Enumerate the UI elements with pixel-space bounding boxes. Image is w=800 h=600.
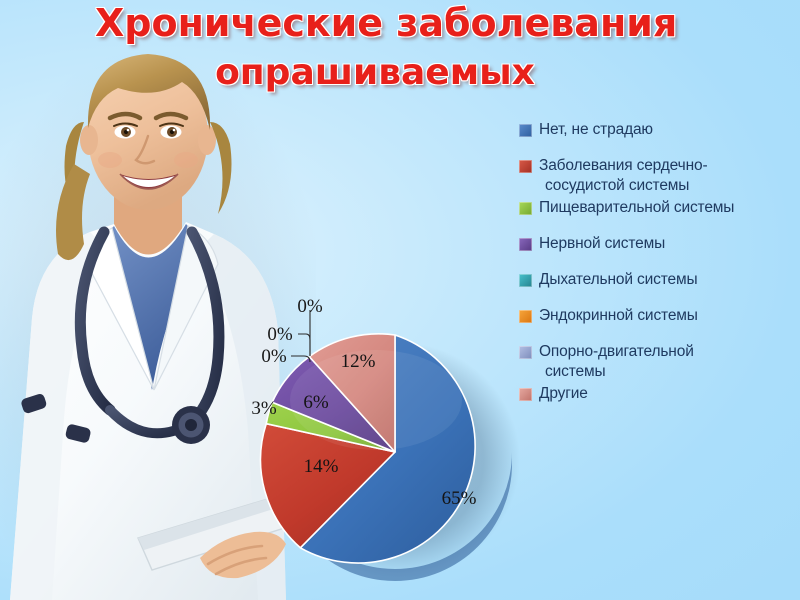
pie-label-other: 12% (341, 351, 376, 372)
callout-line-endocrine (298, 334, 310, 356)
pie-label-cardio: 14% (304, 456, 339, 477)
legend-swatch-icon (519, 310, 532, 323)
legend-swatch-icon (519, 202, 532, 215)
slide-canvas: Хронические заболевания опрашиваемых (0, 0, 800, 600)
legend-swatch-icon (519, 274, 532, 287)
legend-item-digestive[interactable]: Пищеварительной системы (519, 198, 795, 218)
legend-item-no-illness[interactable]: Нет, не страдаю (519, 120, 795, 140)
pie-label-nervous: 6% (303, 392, 329, 413)
legend-item-cardio[interactable]: Заболевания сердечно- сосудистой системы (519, 156, 795, 196)
pie-label-endocrine: 0% (267, 324, 293, 345)
pie-label-respiratory: 0% (261, 346, 287, 367)
legend-label: Дыхательной системы (539, 270, 697, 290)
legend-item-endocrine[interactable]: Эндокринной системы (519, 306, 795, 326)
pie-label-digestive: 3% (251, 398, 277, 419)
pie-label-no-illness: 65% (442, 488, 477, 509)
legend-label-line-2: системы (539, 362, 694, 382)
legend-label-line-1: Заболевания сердечно- (539, 157, 707, 174)
legend-label: Нет, не страдаю (539, 120, 653, 140)
legend-label: Эндокринной системы (539, 306, 698, 326)
legend-item-respiratory[interactable]: Дыхательной системы (519, 270, 795, 290)
legend-label: Нервной системы (539, 234, 665, 254)
legend-label-line-2: сосудистой системы (539, 176, 707, 196)
legend-label-line-1: Опорно-двигательной (539, 343, 694, 360)
pie-label-musculoskeletal: 0% (297, 296, 323, 317)
legend-swatch-icon (519, 124, 532, 137)
legend-label: Пищеварительной системы (539, 198, 734, 218)
legend-swatch-icon (519, 388, 532, 401)
legend-label: Опорно-двигательной системы (539, 342, 694, 382)
legend-item-other[interactable]: Другие (519, 384, 795, 404)
legend-swatch-icon (519, 238, 532, 251)
legend-swatch-icon (519, 346, 532, 359)
chart-legend: Нет, не страдаю Заболевания сердечно- со… (519, 120, 795, 420)
legend-item-musculoskeletal[interactable]: Опорно-двигательной системы (519, 342, 795, 382)
legend-swatch-icon (519, 160, 532, 173)
legend-item-nervous[interactable]: Нервной системы (519, 234, 795, 254)
legend-label: Другие (539, 384, 588, 404)
pie-chart[interactable]: 65% 14% 6% 12% 3% 0% 0% 0% (248, 288, 540, 578)
legend-label: Заболевания сердечно- сосудистой системы (539, 156, 707, 196)
